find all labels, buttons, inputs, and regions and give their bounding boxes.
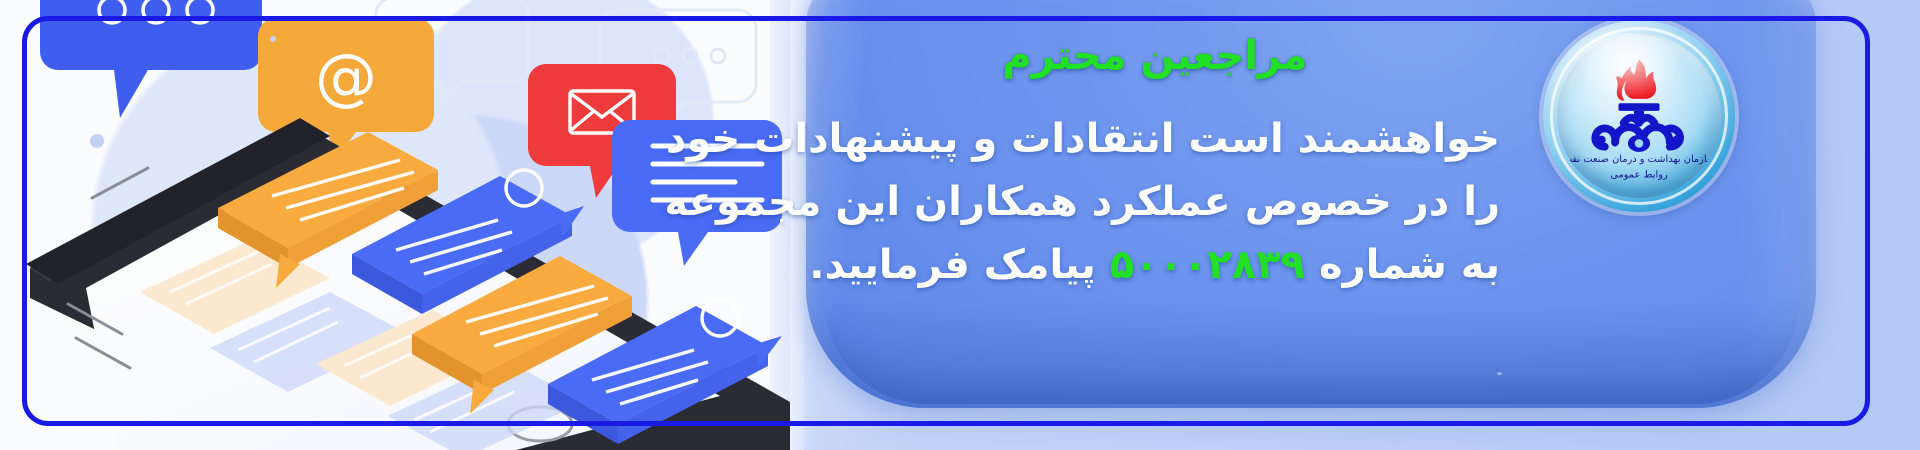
message-text-block: مراجعین محترم خواهشمند است انتقادات و پی…: [810, 18, 1500, 348]
panel-speck: [1497, 372, 1502, 375]
logo-org-line: سازمان بهداشت و درمان صنعت نفت: [1563, 154, 1715, 165]
decorative-dot-icon: [90, 134, 104, 148]
nioc-health-organization-logo: سازمان بهداشت و درمان صنعت نفت روابط عمو…: [1543, 20, 1735, 212]
body-line-1: خواهشمند است انتقادات و پیشنهادات خود: [810, 108, 1500, 171]
body-line-2: را در خصوص عملکرد همکاران این مجموعه: [810, 171, 1500, 234]
decorative-dot-icon: [270, 36, 276, 42]
decorative-dot-icon: [48, 12, 70, 34]
banner-root: @: [0, 0, 1920, 450]
logo-gloss: [1574, 33, 1682, 98]
sms-prefix: به شماره: [1305, 242, 1500, 288]
message-body: خواهشمند است انتقادات و پیشنهادات خود را…: [810, 108, 1500, 298]
sms-line: به شماره ۵۰۰۰۲۸۳۹ پیامک فرمایید.: [810, 234, 1500, 297]
sms-number: ۵۰۰۰۲۸۳۹: [1110, 242, 1305, 288]
sms-suffix: پیامک فرمایید.: [809, 242, 1109, 288]
logo-dept-line: روابط عمومی: [1610, 170, 1668, 181]
page-title: مراجعین محترم: [810, 34, 1500, 78]
svg-text:@: @: [315, 40, 377, 113]
